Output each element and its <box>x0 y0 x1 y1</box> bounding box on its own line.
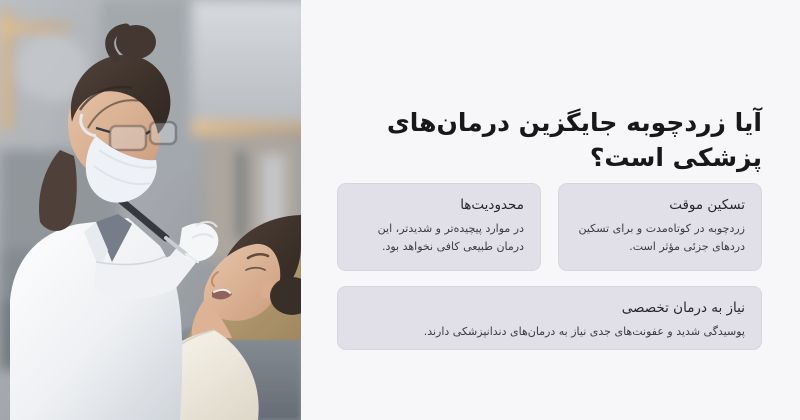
dental-treatment-photo <box>0 0 301 420</box>
slide-root: آیا زردچوبه جایگزین درمان‌های پزشکی است؟… <box>0 0 800 420</box>
dental-treatment-illustration <box>0 0 301 420</box>
card-title: تسکین موقت <box>575 196 745 215</box>
card-limitations: محدودیت‌ها در موارد پیچیده‌تر و شدیدتر، … <box>337 183 541 271</box>
card-body: زردچوبه در کوتاه‌مدت و برای تسکین دردهای… <box>575 220 745 256</box>
card-title: نیاز به درمان تخصصی <box>354 299 745 318</box>
page-title: آیا زردچوبه جایگزین درمان‌های پزشکی است؟ <box>357 105 762 175</box>
card-temporary-relief: تسکین موقت زردچوبه در کوتاه‌مدت و برای ت… <box>558 183 762 271</box>
card-title: محدودیت‌ها <box>354 196 524 215</box>
card-specialist-need: نیاز به درمان تخصصی پوسیدگی شدید و عفونت… <box>337 286 762 350</box>
content-panel: آیا زردچوبه جایگزین درمان‌های پزشکی است؟… <box>301 0 800 420</box>
card-body: پوسیدگی شدید و عفونت‌های جدی نیاز به درم… <box>354 323 745 341</box>
card-body: در موارد پیچیده‌تر و شدیدتر، این درمان ط… <box>354 220 524 256</box>
